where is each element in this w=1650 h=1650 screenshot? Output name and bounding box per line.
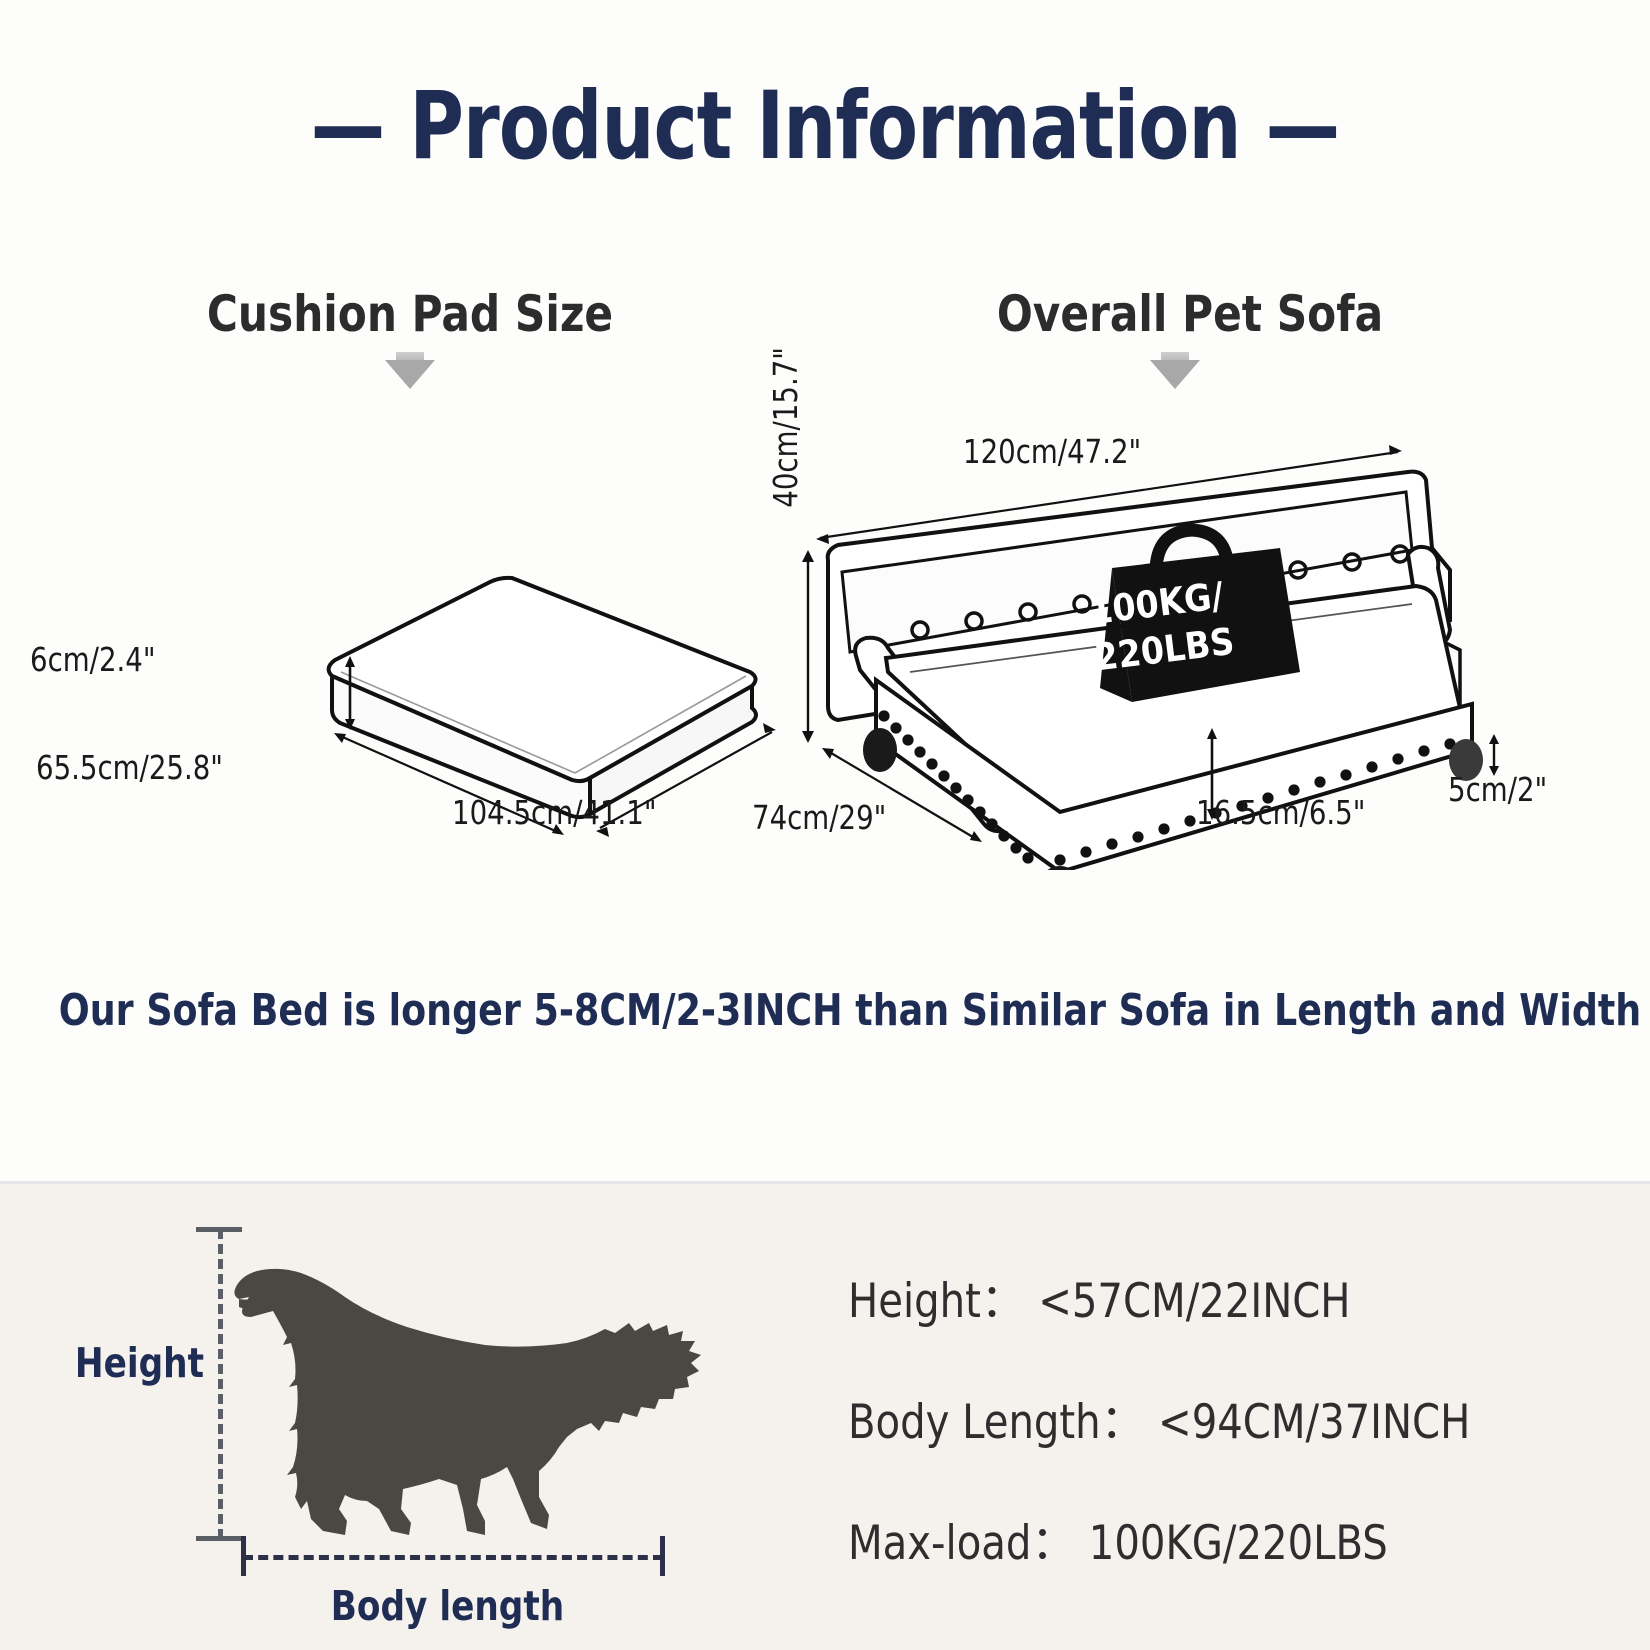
body-length-cap-right	[660, 1536, 665, 1576]
cushion-depth-label: 65.5cm/25.8"	[36, 748, 223, 787]
page-title: — Product Information —	[99, 72, 1551, 181]
cushion-width-label: 104.5cm/41.1"	[452, 793, 657, 832]
cushion-pad-section-header: Cushion Pad Size	[119, 285, 702, 343]
sofa-depth-label: 74cm/29"	[752, 798, 886, 837]
height-label: Height	[75, 1339, 204, 1387]
sofa-height-label: 40cm/15.7"	[766, 330, 805, 525]
sofa-foot-height-label: 5cm/2"	[1448, 770, 1547, 809]
product-info-top-section: — Product Information — Cushion Pad Size…	[0, 0, 1650, 1181]
spec-body-length: Body Length： <94CM/37INCH	[848, 1383, 1470, 1452]
pet-size-guide-section: Height Body length Height： <57CM/22INCH …	[0, 1181, 1650, 1650]
sofa-base-height-label: 16.5cm/6.5"	[1196, 793, 1365, 832]
cushion-pad-diagram	[60, 560, 780, 850]
height-measure-cap-bottom	[196, 1536, 242, 1541]
body-length-measure-line	[243, 1555, 663, 1560]
cushion-thickness-label: 6cm/2.4"	[30, 640, 156, 679]
down-arrow-icon	[1150, 352, 1200, 390]
comparison-banner-text: Our Sofa Bed is longer 5-8CM/2-3INCH tha…	[59, 985, 1641, 1036]
down-arrow-icon	[385, 352, 435, 390]
spec-height: Height： <57CM/22INCH	[848, 1262, 1470, 1331]
overall-pet-sofa-section-header: Overall Pet Sofa	[917, 285, 1462, 343]
spec-max-load: Max-load： 100KG/220LBS	[848, 1504, 1470, 1573]
comparison-banner: Our Sofa Bed is longer 5-8CM/2-3INCH tha…	[0, 985, 1650, 1036]
dog-silhouette-icon	[195, 1179, 755, 1579]
height-measure-line	[218, 1229, 223, 1539]
pet-spec-list: Height： <57CM/22INCH Body Length： <94CM/…	[848, 1262, 1503, 1573]
body-length-label: Body length	[331, 1582, 564, 1630]
sofa-width-label: 120cm/47.2"	[963, 432, 1141, 471]
